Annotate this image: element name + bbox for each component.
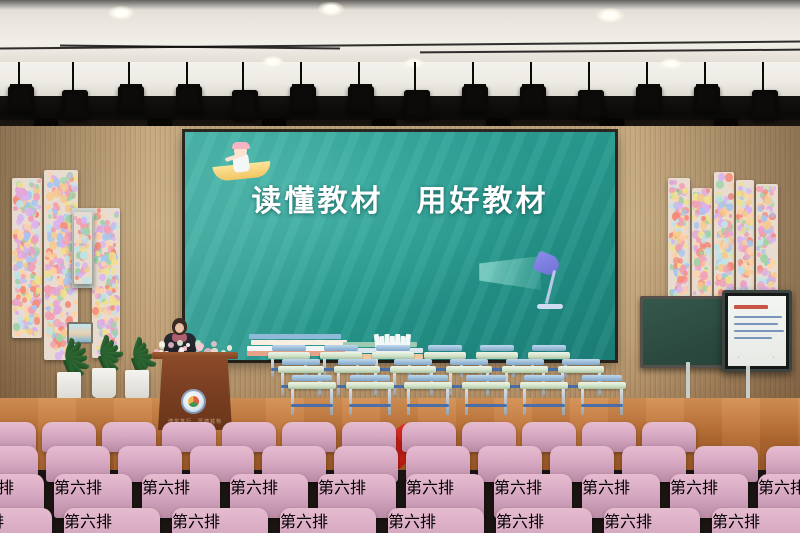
stage-spotlight [290,86,316,112]
stage-spotlight [232,90,258,120]
seat-row-label: 第六排 [54,474,132,498]
seat-row-label: 第六排 [0,474,44,498]
chair-back [562,359,600,365]
desk-crossbar [465,404,507,407]
desk-top [372,352,414,359]
flower [211,341,217,347]
chair-back [506,359,544,365]
seat-row-label: 第六排 [230,474,308,498]
flower [227,345,232,350]
seat-row-label: 第六排 [406,474,484,498]
desk-top [520,382,568,389]
chair-back [408,375,448,381]
stage-spotlight [404,90,430,120]
whiteboard-heading [734,305,768,309]
desk-top [268,352,310,359]
desk-top [320,352,362,359]
stage-spotlight [62,90,88,120]
stage-spotlight [752,90,778,120]
flower [168,342,174,348]
slide-title: 读懂教材 用好教材 [185,176,615,220]
chair-back [428,345,462,351]
desk-top [424,352,466,359]
spotlight-barrel [466,89,484,107]
chair-back [282,359,320,365]
flower [196,345,202,351]
chair-back [376,345,410,351]
desk-top [334,366,380,373]
spotlight-barrel [12,89,30,107]
book-spine [249,334,341,339]
whiteboard-diagram [738,336,774,358]
whiteboard-screen [728,296,786,366]
seat-row-label: 第六排 [280,508,376,532]
collage-poster-left-inner [74,212,92,284]
desk-crossbar [291,404,333,407]
audience-seat: 第六排 [604,508,700,533]
seat-row-label: 第六排 [172,508,268,532]
stage-spotlight [636,86,662,112]
chalkboard-stand-post [686,362,690,400]
spotlight-barrel [236,93,254,115]
audience-seat: 第六排 [280,508,376,533]
desk-top [476,352,518,359]
chair-back [532,345,566,351]
chair-back [324,345,358,351]
spotlight-barrel [352,89,370,107]
stage-spotlight [118,86,144,112]
spotlight-barrel [640,89,658,107]
stage-spotlight [176,86,202,112]
downlight [108,6,134,20]
flower [177,340,183,346]
desk-lamp-icon [477,250,569,324]
seat-row-label: 第六排 [0,508,52,532]
desk-top [558,366,604,373]
desk-top [528,352,570,359]
stage-spotlight [578,90,604,120]
chair-back [272,345,306,351]
chair-back [350,375,390,381]
desk-top [446,366,492,373]
desk-top [390,366,436,373]
downlight [262,56,284,67]
spotlight-barrel [756,93,774,115]
spotlight-barrel [180,89,198,107]
interactive-whiteboard [722,290,792,372]
desk-top [462,382,510,389]
seat-row-label: 第六排 [604,508,700,532]
seat-row-label: 第六排 [582,474,660,498]
audience-seat: 第六排 [388,508,484,533]
stage-spotlight [348,86,374,112]
audience-seat: 第六排 [172,508,268,533]
desk-crossbar [407,404,449,407]
stage-spotlight [8,86,34,112]
downlight [596,8,624,23]
chair-back [524,375,564,381]
desk-top [404,382,452,389]
desk-leg [337,373,340,395]
seat-row-label: 第六排 [494,474,572,498]
seat-row-label: 第六排 [496,508,592,532]
stage-spotlight [462,86,488,112]
spotlight-barrel [698,89,716,107]
stage-spotlight [520,86,546,112]
chair-back [292,375,332,381]
speaker-face [175,323,184,333]
spotlight-barrel [582,93,600,115]
board-stand-post [746,366,750,400]
collage-panel-left-1 [12,178,42,338]
seat-row-label: 第六排 [318,474,396,498]
projection-screen: 读懂教材 用好教材 [185,132,615,360]
desk-top [578,382,626,389]
plant-pot [92,368,116,398]
desk-leg [281,373,284,395]
chair-back [582,375,622,381]
seat-row-label: 第六排 [758,474,800,498]
chair-back [338,359,376,365]
seat-row-label: 第六排 [64,508,160,532]
seat-row-label: 第六排 [670,474,748,498]
auditorium-photo: 读懂教材 用好教材 博学笃行 厚 [0,0,800,533]
plant-pot [125,370,149,400]
chair-back [394,359,432,365]
audience-seating: 第六排第六排第六排第六排第六排第六排第六排第六排第六排第六排第六排第六排第六排第… [0,408,800,533]
spotlight-barrel [408,93,426,115]
desk-top [288,382,336,389]
chair-back [450,359,488,365]
spotlight-barrel [122,89,140,107]
spotlight-barrel [294,89,312,107]
spotlight-barrel [66,93,84,115]
desk-top [502,366,548,373]
seat-row-label: 第六排 [388,508,484,532]
chair-back [466,375,506,381]
desk-crossbar [581,404,623,407]
desk-top [278,366,324,373]
audience-seat: 第六排 [496,508,592,533]
seat-row-label: 第六排 [712,508,800,532]
desk-top [346,382,394,389]
seat-row-label: 第六排 [142,474,220,498]
downlight [318,2,344,16]
stage-spotlight [694,86,720,112]
audience-seat: 第六排 [0,508,52,533]
audience-seat: 第六排 [64,508,160,533]
chair-back [480,345,514,351]
desk-crossbar [523,404,565,407]
spotlight-barrel [524,89,542,107]
audience-seat: 第六排 [712,508,800,533]
downlight [660,58,682,69]
